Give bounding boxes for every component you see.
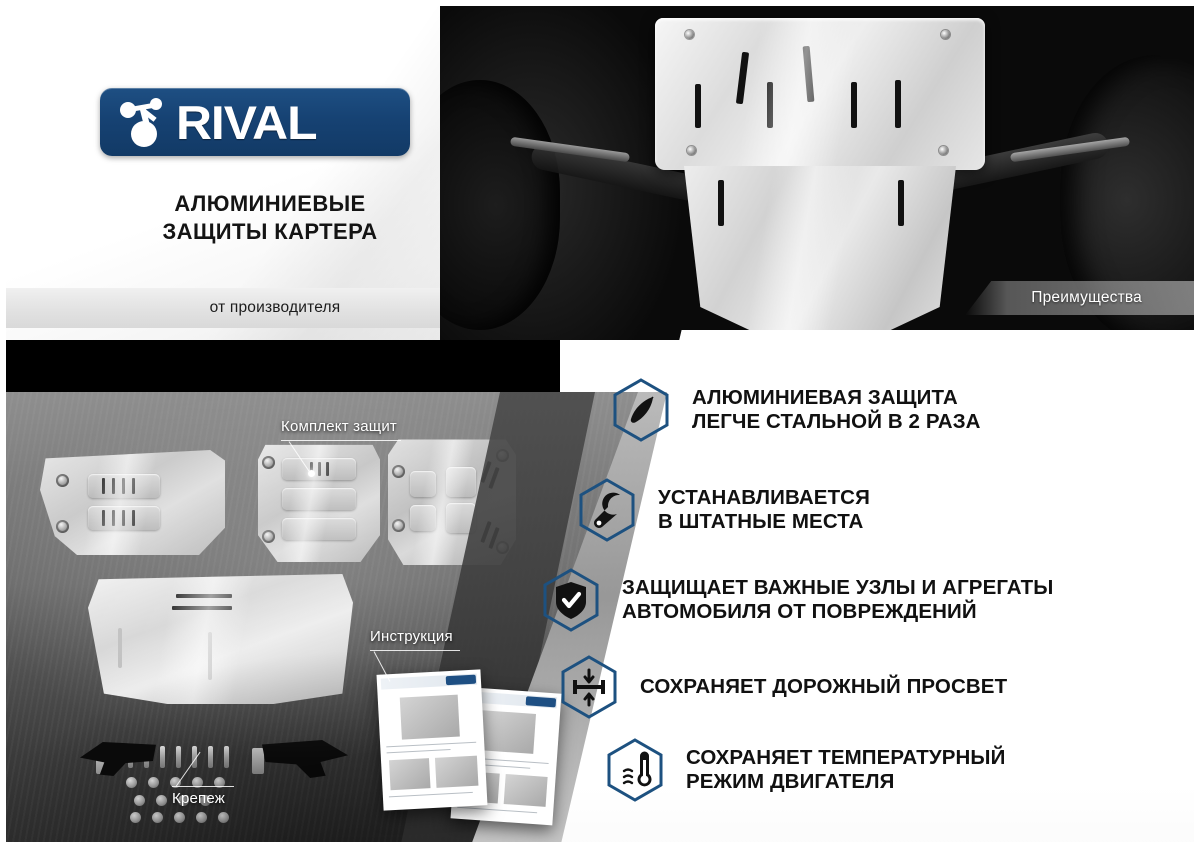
features-list: АЛЮМИНИЕВАЯ ЗАЩИТА ЛЕГЧЕ СТАЛЬНОЙ В 2 РА… [560,330,1200,848]
skid-plate-front [655,18,985,170]
callout-instruction-label: Инструкция [370,628,453,645]
hero-title-line2: ЗАЩИТЫ КАРТЕРА [100,218,440,246]
feature-text: ЗАЩИЩАЕТ ВАЖНЫЕ УЗЛЫ И АГРЕГАТЫ АВТОМОБИ… [622,576,1053,624]
feature-text: АЛЮМИНИЕВАЯ ЗАЩИТА ЛЕГЧЕ СТАЛЬНОЙ В 2 РА… [692,386,981,434]
frame-edge-top [0,0,1200,6]
hero-title-line1: АЛЮМИНИЕВЫЕ [100,190,440,218]
feature-item-clearance[interactable]: СОХРАНЯЕТ ДОРОЖНЫЙ ПРОСВЕТ [560,655,1007,719]
feature-item-thermal[interactable]: СОХРАНЯЕТ ТЕМПЕРАТУРНЫЙ РЕЖИМ ДВИГАТЕЛЯ [606,738,1005,802]
logo-wordmark: RIVAL [176,99,316,146]
advantages-badge: Преимущества [965,281,1200,315]
divider-band [0,340,560,394]
instruction-sheet-front [377,669,488,810]
thermometer-icon [606,738,664,802]
feature-item-lightweight[interactable]: АЛЮМИНИЕВАЯ ЗАЩИТА ЛЕГЧЕ СТАЛЬНОЙ В 2 РА… [612,378,981,442]
wrench-icon [578,478,636,542]
hero-title: АЛЮМИНИЕВЫЕ ЗАЩИТЫ КАРТЕРА [100,190,440,246]
poster-root: RIVAL АЛЮМИНИЕВЫЕ ЗАЩИТЫ КАРТЕРА от прои… [0,0,1200,848]
callout-kit-label: Комплект защит [281,418,397,435]
hero-subtitle: от производителя [150,299,341,317]
feature-text: УСТАНАВЛИВАЕТСЯ В ШТАТНЫЕ МЕСТА [658,486,870,534]
rival-logo: RIVAL [100,88,410,156]
ground-clearance-icon [560,655,618,719]
frame-edge-left [0,0,6,848]
skid-plate-rear [684,166,956,330]
callout-hardware-label: Крепеж [172,790,225,807]
frame-edge-bottom [0,842,1200,848]
feature-text: СОХРАНЯЕТ ТЕМПЕРАТУРНЫЙ РЕЖИМ ДВИГАТЕЛЯ [686,746,1005,794]
feature-item-protection[interactable]: ЗАЩИЩАЕТ ВАЖНЫЕ УЗЛЫ И АГРЕГАТЫ АВТОМОБИ… [542,568,1053,632]
feature-text: СОХРАНЯЕТ ДОРОЖНЫЙ ПРОСВЕТ [640,675,1007,699]
shield-check-icon [542,568,600,632]
undercarriage-photo: Преимущества [440,0,1200,340]
feature-item-fitment[interactable]: УСТАНАВЛИВАЕТСЯ В ШТАТНЫЕ МЕСТА [578,478,870,542]
molecule-icon [114,94,178,150]
frame-edge-right [1194,0,1200,848]
hero-subtitle-strip: от производителя [0,288,490,328]
feather-icon [612,378,670,442]
